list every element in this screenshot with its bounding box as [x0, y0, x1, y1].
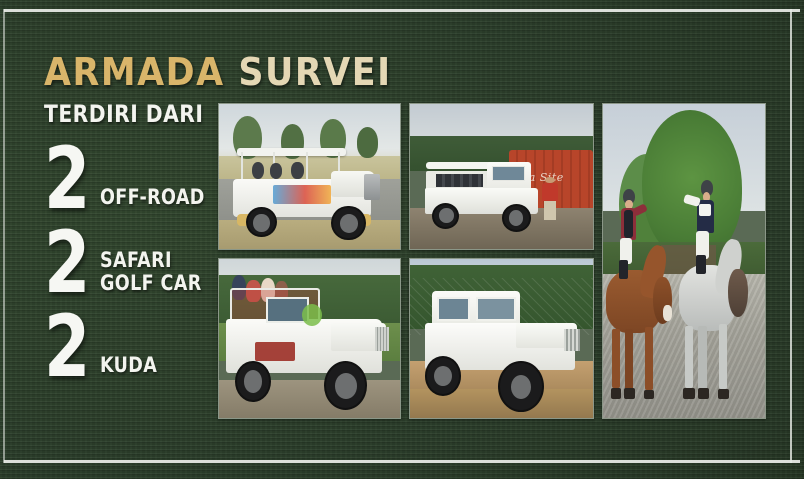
page-title: ARMADA SURVEI — [44, 52, 238, 92]
subtitle: TERDIRI DARI — [44, 101, 223, 127]
photo-offroad-jeep — [218, 258, 401, 419]
horse-chestnut — [606, 242, 677, 399]
photo-safari-truck-scene: Ca Site — [410, 104, 593, 249]
stat-label: KUDA — [100, 355, 157, 385]
horse-grey — [678, 236, 753, 399]
title-word-survei: SURVEI — [238, 50, 391, 94]
frame-bottom-line — [4, 460, 800, 463]
title-word-armada: ARMADA — [44, 50, 225, 94]
photo-golf-car — [218, 103, 401, 250]
frame-left-line — [3, 9, 5, 463]
headline-column: ARMADA SURVEI TERDIRI DARI 2 OFF-ROAD 2 … — [44, 52, 234, 385]
stat-count: 2 — [44, 141, 94, 217]
stat-label: SAFARI GOLF CAR — [100, 249, 202, 301]
frame-top-line — [4, 9, 800, 12]
rider-right — [683, 180, 726, 278]
stat-list: 2 OFF-ROAD 2 SAFARI GOLF CAR 2 KUDA — [44, 133, 234, 385]
photo-offroad-jimny-scene — [410, 259, 593, 418]
photo-safari-truck: Ca Site — [409, 103, 594, 250]
stat-item-kuda: 2 KUDA — [44, 301, 234, 385]
poster-canvas: ARMADA SURVEI TERDIRI DARI 2 OFF-ROAD 2 … — [0, 0, 804, 479]
photo-offroad-jeep-scene — [219, 259, 400, 418]
photo-golf-car-scene — [219, 104, 400, 249]
frame-right-line — [790, 9, 792, 463]
stat-item-offroad: 2 OFF-ROAD — [44, 133, 234, 217]
stat-count: 2 — [44, 225, 94, 301]
photo-collage: Ca Site — [218, 103, 766, 419]
stat-item-golf-car: 2 SAFARI GOLF CAR — [44, 217, 234, 301]
photo-offroad-jimny — [409, 258, 594, 419]
rider-left — [613, 189, 653, 283]
photo-horses — [602, 103, 766, 419]
stat-label: OFF-ROAD — [100, 187, 205, 217]
photo-horses-scene — [603, 104, 765, 418]
stat-count: 2 — [44, 309, 94, 385]
